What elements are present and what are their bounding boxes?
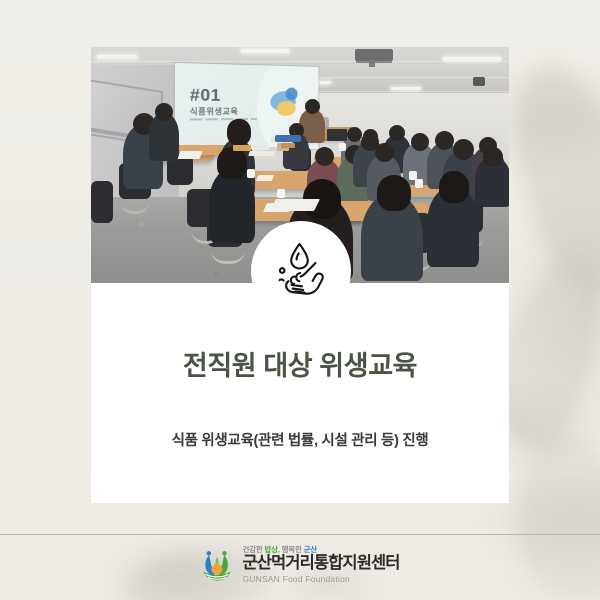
paper-cup xyxy=(277,189,285,198)
slide-graphic xyxy=(277,101,296,116)
attendee-head xyxy=(375,143,394,162)
slide-graphic xyxy=(285,87,297,100)
splash-arc xyxy=(280,279,284,280)
attendee-head xyxy=(315,147,334,166)
handwash-icon xyxy=(269,240,333,302)
attendee xyxy=(209,169,255,243)
paper-cup xyxy=(247,169,255,178)
attendee-head xyxy=(439,171,469,203)
ceiling-light xyxy=(391,87,421,90)
finger-line xyxy=(293,289,304,290)
attendee-head xyxy=(389,125,405,141)
logo-name-kr: 군산먹거리통합지원센터 xyxy=(242,555,399,572)
logo-tagline: 건강한 밥상, 행복한 군산 xyxy=(242,546,399,554)
page-subtitle: 식품 위생교육(관련 법률, 시설 관리 등) 진행 xyxy=(91,431,509,451)
logo-tagline-highlight-2: 군산 xyxy=(304,545,317,554)
desk-item xyxy=(233,145,251,151)
paper xyxy=(178,151,203,159)
ceiling-light xyxy=(443,57,501,61)
water-drop-shape xyxy=(291,244,308,268)
logo-name-en: GUNSAN Food Foundation xyxy=(242,574,399,584)
logo-green-dot xyxy=(223,551,227,555)
gunsan-food-foundation-logo-mark xyxy=(200,548,234,582)
logo-blue-dot xyxy=(207,551,211,555)
footer-logo: 건강한 밥상, 행복한 군산 군산먹거리통합지원센터 GUNSAN Food F… xyxy=(0,542,600,588)
attendee-head xyxy=(227,119,251,145)
attendee-head xyxy=(483,147,503,167)
paper-cup xyxy=(415,179,423,188)
chair xyxy=(91,181,113,223)
projector-mount xyxy=(369,60,375,67)
attendee-head xyxy=(411,133,429,151)
paper xyxy=(248,151,276,156)
attendee-head xyxy=(453,139,474,160)
ceiling-light xyxy=(97,55,137,59)
page-title: 전직원 대상 위생교육 xyxy=(91,350,509,384)
laptop xyxy=(327,129,347,141)
wall-speaker xyxy=(473,77,485,86)
attendee-head xyxy=(347,127,362,142)
logo-text-block: 건강한 밥상, 행복한 군산 군산먹거리통합지원센터 GUNSAN Food F… xyxy=(242,546,399,585)
slide-body-lines xyxy=(190,118,257,121)
finger-line xyxy=(295,292,304,293)
attendee-head xyxy=(155,103,173,121)
paper xyxy=(256,175,274,181)
logo-tagline-prefix: 건강한 xyxy=(242,545,264,554)
right-forearm xyxy=(301,263,316,277)
attendee-head xyxy=(217,147,247,179)
promo-card-canvas: #01 식품위생교육 xyxy=(0,0,600,600)
logo-sun xyxy=(212,564,223,575)
instructor-head xyxy=(305,99,320,114)
notebook xyxy=(270,199,320,211)
desk-item xyxy=(275,135,301,142)
finger-line xyxy=(292,285,303,286)
water-drop-highlight xyxy=(297,253,299,259)
slide-number: #01 xyxy=(190,85,221,106)
logo-tagline-highlight-1: 밥상 xyxy=(264,545,277,554)
attendee-head xyxy=(435,131,454,150)
paper-cup xyxy=(339,143,346,151)
footer-divider xyxy=(0,534,600,535)
ceiling-tile-line xyxy=(91,61,509,62)
logo-tagline-middle: , 행복한 xyxy=(278,545,304,554)
handwash-icon-badge xyxy=(251,221,351,321)
slide-title: 식품위생교육 xyxy=(190,106,238,117)
desk-item xyxy=(281,143,295,148)
ceiling-light xyxy=(241,49,289,53)
upper-hand-thumb xyxy=(296,273,300,281)
splash-dot xyxy=(280,268,285,273)
attendee-head xyxy=(377,175,411,211)
upper-hand-knuckle xyxy=(291,277,295,284)
